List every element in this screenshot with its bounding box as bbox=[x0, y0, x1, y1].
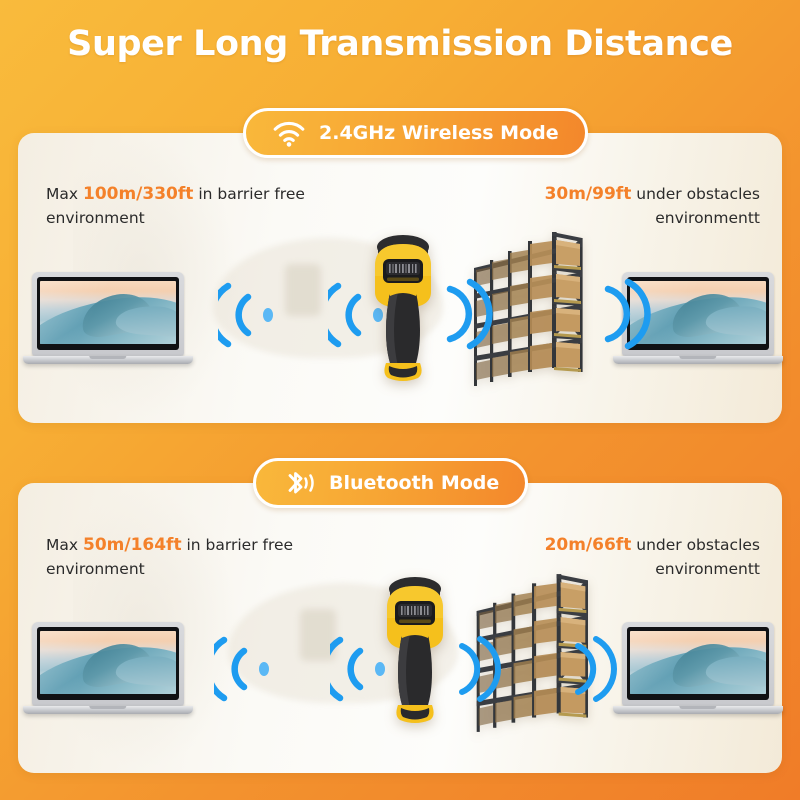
caption-suffix: under obstacles environmentt bbox=[631, 185, 760, 227]
signal-arcs-icon bbox=[452, 634, 504, 704]
caption-bluetooth-obstacles: 20m/66ft under obstacles environmentt bbox=[460, 533, 760, 581]
laptop-screen bbox=[40, 631, 176, 694]
caption-highlight: 20m/66ft bbox=[545, 535, 632, 555]
laptop-base bbox=[613, 706, 783, 714]
caption-highlight: 100m/330ft bbox=[83, 184, 193, 204]
signal-arcs-icon bbox=[568, 634, 620, 704]
laptop-lid bbox=[32, 272, 184, 356]
badge-bluetooth-label: Bluetooth Mode bbox=[329, 472, 499, 494]
signal-arcs-icon bbox=[596, 276, 654, 352]
caption-suffix: under obstacles environmentt bbox=[631, 536, 760, 578]
badge-wireless-label: 2.4GHz Wireless Mode bbox=[319, 122, 559, 144]
signal-arcs-icon bbox=[438, 276, 496, 352]
laptop-bezel bbox=[627, 627, 769, 700]
signal-arcs-icon bbox=[218, 278, 280, 352]
laptop-bezel bbox=[37, 627, 179, 700]
caption-wireless-barrier-free: Max 100m/330ft in barrier free environme… bbox=[46, 182, 336, 230]
caption-highlight: 50m/164ft bbox=[83, 535, 182, 555]
laptop-base bbox=[23, 356, 193, 364]
laptop-lid bbox=[32, 622, 184, 706]
caption-bluetooth-barrier-free: Max 50m/164ft in barrier free environmen… bbox=[46, 533, 336, 581]
caption-wireless-obstacles: 30m/99ft under obstacles environmentt bbox=[460, 182, 760, 230]
laptop-bezel bbox=[37, 277, 179, 350]
laptop-screen bbox=[630, 631, 766, 694]
laptop-base bbox=[23, 706, 193, 714]
caption-highlight: 30m/99ft bbox=[545, 184, 632, 204]
laptop-computer bbox=[622, 622, 774, 714]
infographic-page: Super Long Transmission Distance 2.4GHz … bbox=[0, 0, 800, 800]
laptop-base bbox=[613, 356, 783, 364]
laptop-lid bbox=[622, 622, 774, 706]
caption-prefix: Max bbox=[46, 536, 83, 554]
barcode-scanner bbox=[378, 572, 452, 724]
laptop-computer bbox=[32, 272, 184, 364]
badge-wireless-mode: 2.4GHz Wireless Mode bbox=[243, 108, 588, 158]
signal-arcs-icon bbox=[214, 632, 276, 706]
bluetooth-icon bbox=[282, 469, 316, 497]
barcode-scanner bbox=[366, 230, 440, 382]
laptop-screen bbox=[40, 281, 176, 344]
laptop-computer bbox=[32, 622, 184, 714]
page-title: Super Long Transmission Distance bbox=[0, 24, 800, 64]
badge-bluetooth-mode: Bluetooth Mode bbox=[253, 458, 528, 508]
wifi-icon bbox=[272, 119, 306, 147]
caption-prefix: Max bbox=[46, 185, 83, 203]
